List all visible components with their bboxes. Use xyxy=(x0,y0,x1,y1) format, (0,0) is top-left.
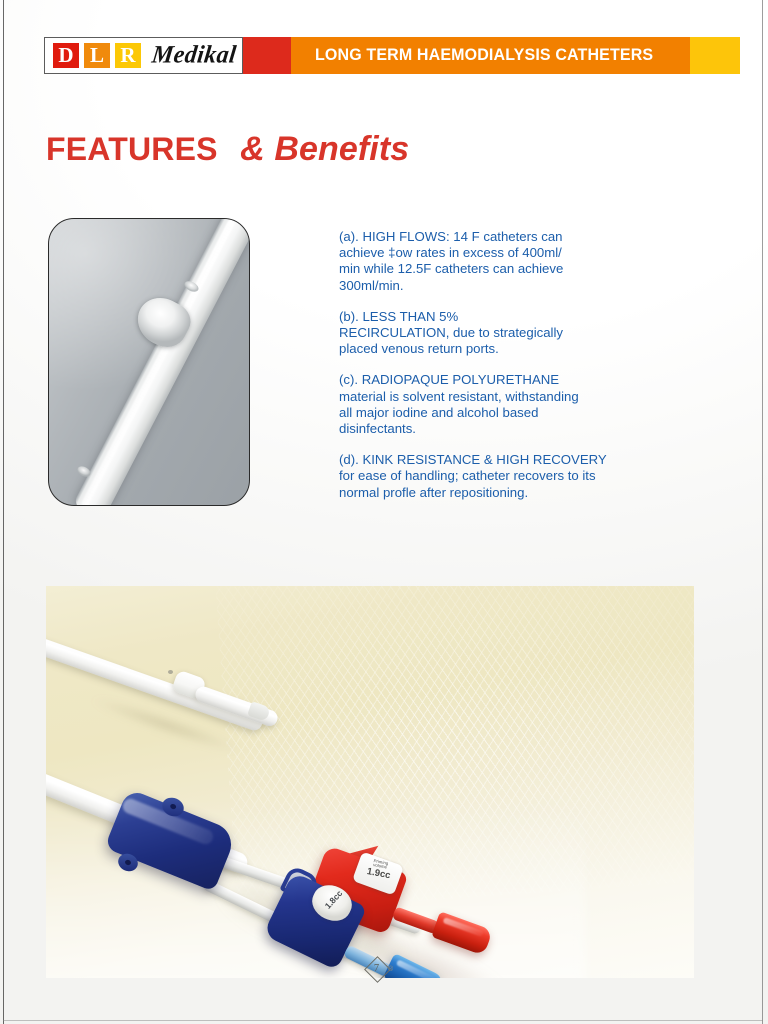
features-list: (a). HIGH FLOWS: 14 F catheters can achi… xyxy=(339,229,649,501)
header-yellow-block xyxy=(690,37,740,74)
logo-letter-l: L xyxy=(84,43,110,68)
page-border-left xyxy=(3,0,4,1024)
page-border-right xyxy=(762,0,763,1024)
feature-item-b: (b). LESS THAN 5% RECIRCULATION, due to … xyxy=(339,309,649,358)
page-title-secondary: & Benefits xyxy=(240,130,409,168)
header-banner-title: LONG TERM HAEMODIALYSIS CATHETERS xyxy=(315,37,676,74)
product-hero-photo: Priming volume 1.9cc 1.8cc xyxy=(46,586,694,978)
tip-side-port xyxy=(168,670,173,674)
page-border-bottom xyxy=(3,1020,763,1021)
feature-item-a: (a). HIGH FLOWS: 14 F catheters can achi… xyxy=(339,229,649,294)
page-number-text: 7 xyxy=(368,960,385,977)
catheter-cuff-detail-photo: (b). xyxy=(48,218,250,506)
brand-logo: D L R Medikal xyxy=(44,37,243,74)
feature-item-c: (c). RADIOPAQUE POLYURETHANE material is… xyxy=(339,372,649,437)
page-title: FEATURES & Benefits xyxy=(46,132,409,166)
page-number: 7 ® xyxy=(368,960,392,984)
logo-wordmark: Medikal xyxy=(150,41,238,69)
registered-mark: ® xyxy=(388,966,393,973)
page-header: LONG TERM HAEMODIALYSIS CATHETERS D L R … xyxy=(44,37,740,74)
logo-letter-r: R xyxy=(115,43,141,68)
page-title-primary: FEATURES xyxy=(46,131,218,167)
brochure-page: LONG TERM HAEMODIALYSIS CATHETERS D L R … xyxy=(0,0,768,1024)
feature-item-d: (d). KINK RESISTANCE & HIGH RECOVERY for… xyxy=(339,452,649,501)
logo-letter-d: D xyxy=(53,43,79,68)
